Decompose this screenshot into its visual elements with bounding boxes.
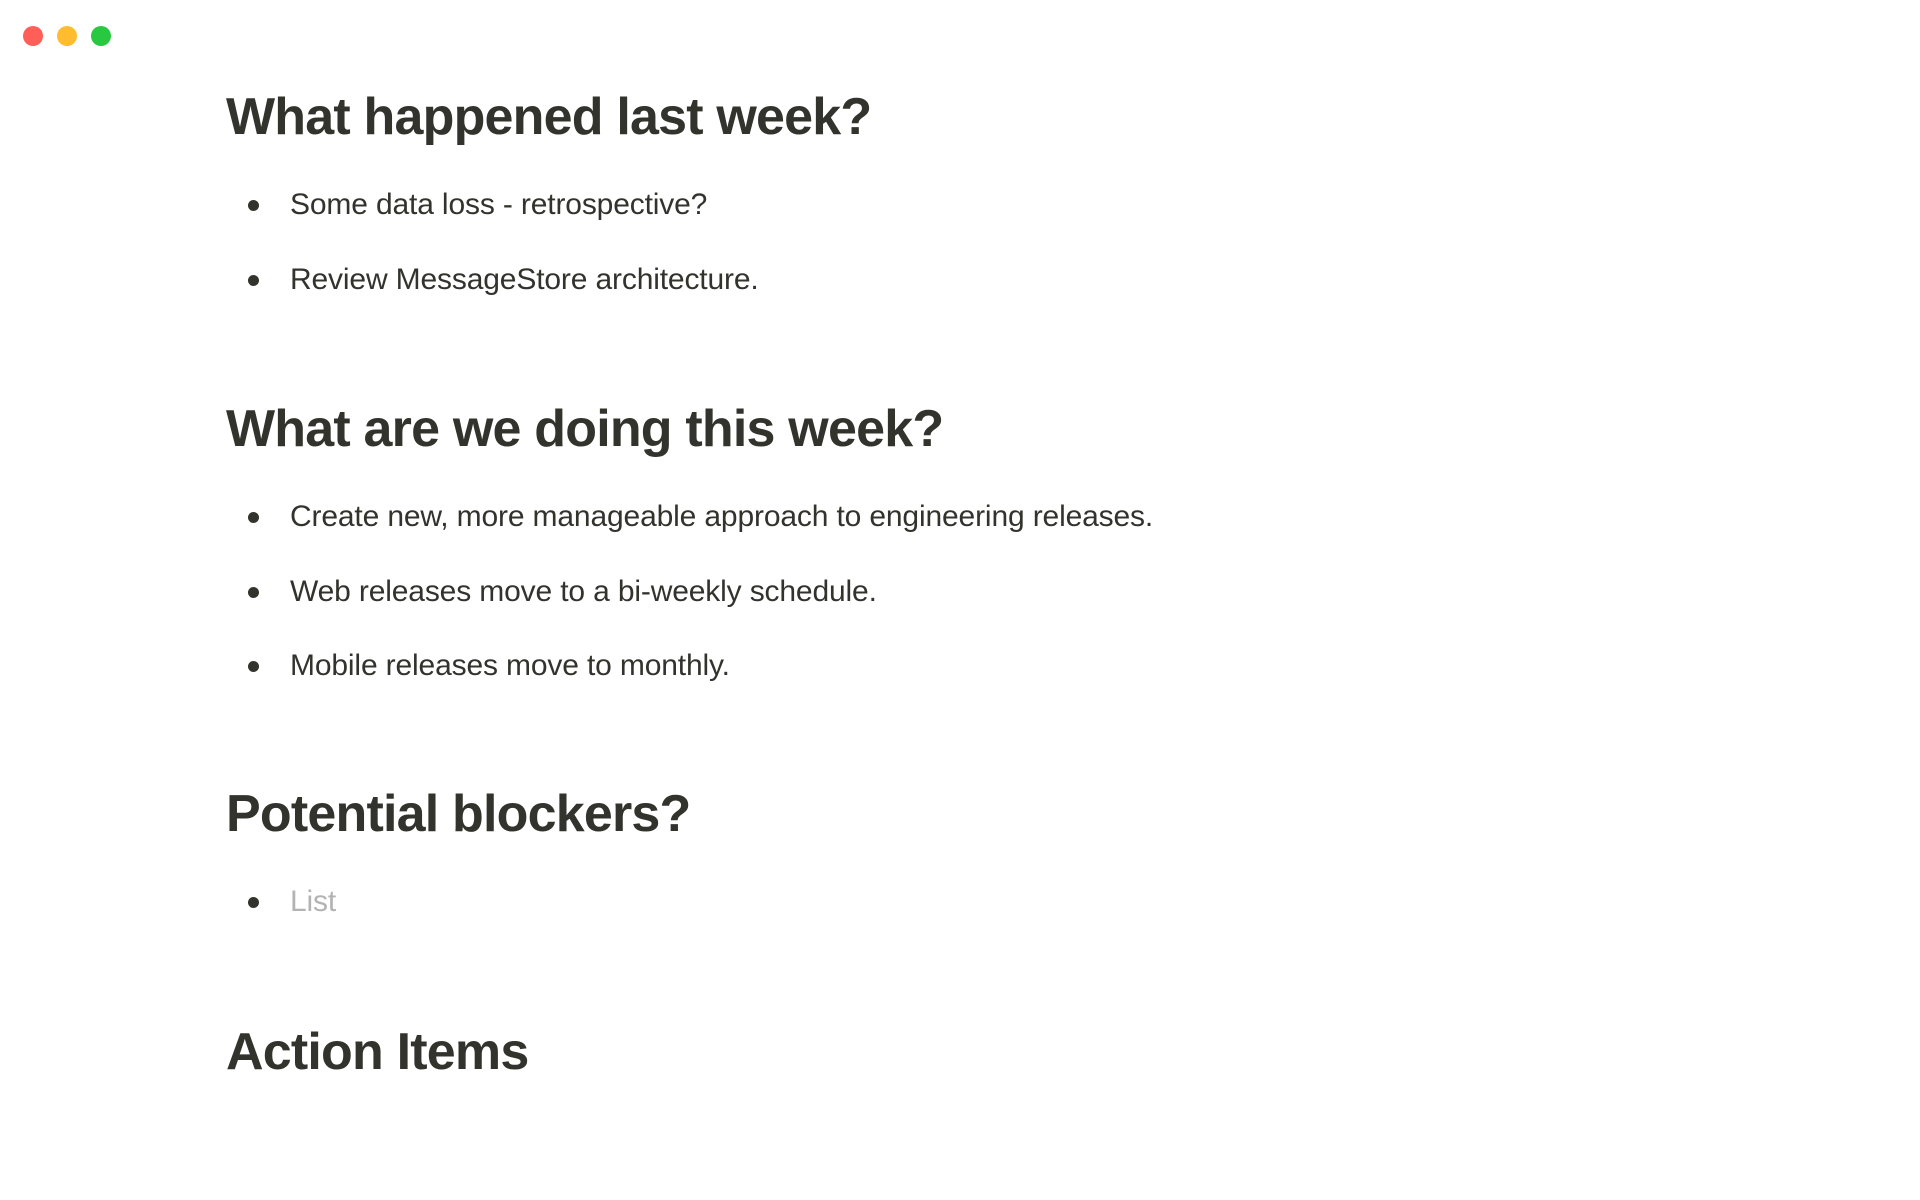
section-what-are-we-doing-this-week: What are we doing this week? Create new,… [226, 400, 1626, 685]
spacer [226, 685, 1626, 785]
spacer [226, 843, 1626, 846]
document-canvas[interactable]: What happened last week? Some data loss … [0, 60, 1920, 1200]
bullet-list: List [226, 883, 1626, 921]
spacer [226, 921, 1626, 1023]
bullet-dot-icon [248, 512, 259, 523]
list-item-label: Review MessageStore architecture. [290, 263, 759, 296]
close-window-button[interactable] [23, 26, 43, 46]
list-item[interactable]: Some data loss - retrospective? [226, 186, 1626, 224]
section-heading[interactable]: What happened last week? [226, 88, 1626, 146]
list-item[interactable]: Web releases move to a bi-weekly schedul… [226, 573, 1626, 611]
list-item[interactable]: Mobile releases move to monthly. [226, 647, 1626, 685]
bullet-dot-icon [248, 661, 259, 672]
bullet-list: Create new, more manageable approach to … [226, 498, 1626, 685]
zoom-window-button[interactable] [91, 26, 111, 46]
list-item-placeholder-label: List [290, 885, 336, 918]
title-bar[interactable] [0, 0, 1920, 60]
bullet-dot-icon [248, 587, 259, 598]
bullet-list: Some data loss - retrospective? Review M… [226, 186, 1626, 298]
window-controls [23, 26, 111, 46]
list-item-label: Mobile releases move to monthly. [290, 649, 730, 682]
bullet-dot-icon [248, 200, 259, 211]
section-what-happened-last-week: What happened last week? Some data loss … [226, 88, 1626, 298]
document-content[interactable]: What happened last week? Some data loss … [226, 60, 1626, 1081]
section-heading[interactable]: Action Items [226, 1023, 1626, 1081]
section-action-items: Action Items [226, 1023, 1626, 1081]
list-item[interactable]: Create new, more manageable approach to … [226, 498, 1626, 536]
list-item[interactable]: Review MessageStore architecture. [226, 261, 1626, 299]
bullet-dot-icon [248, 275, 259, 286]
section-heading[interactable]: What are we doing this week? [226, 400, 1626, 458]
spacer [226, 298, 1626, 400]
section-heading[interactable]: Potential blockers? [226, 785, 1626, 843]
list-item-label: Web releases move to a bi-weekly schedul… [290, 575, 877, 608]
list-item-label: Some data loss - retrospective? [290, 188, 707, 221]
spacer [226, 146, 1626, 149]
section-potential-blockers: Potential blockers? List [226, 785, 1626, 921]
minimize-window-button[interactable] [57, 26, 77, 46]
list-item-placeholder[interactable]: List [226, 883, 1626, 921]
list-item-label: Create new, more manageable approach to … [290, 500, 1153, 533]
spacer [226, 458, 1626, 461]
app-window: What happened last week? Some data loss … [0, 0, 1920, 1200]
bullet-dot-icon [248, 897, 259, 908]
